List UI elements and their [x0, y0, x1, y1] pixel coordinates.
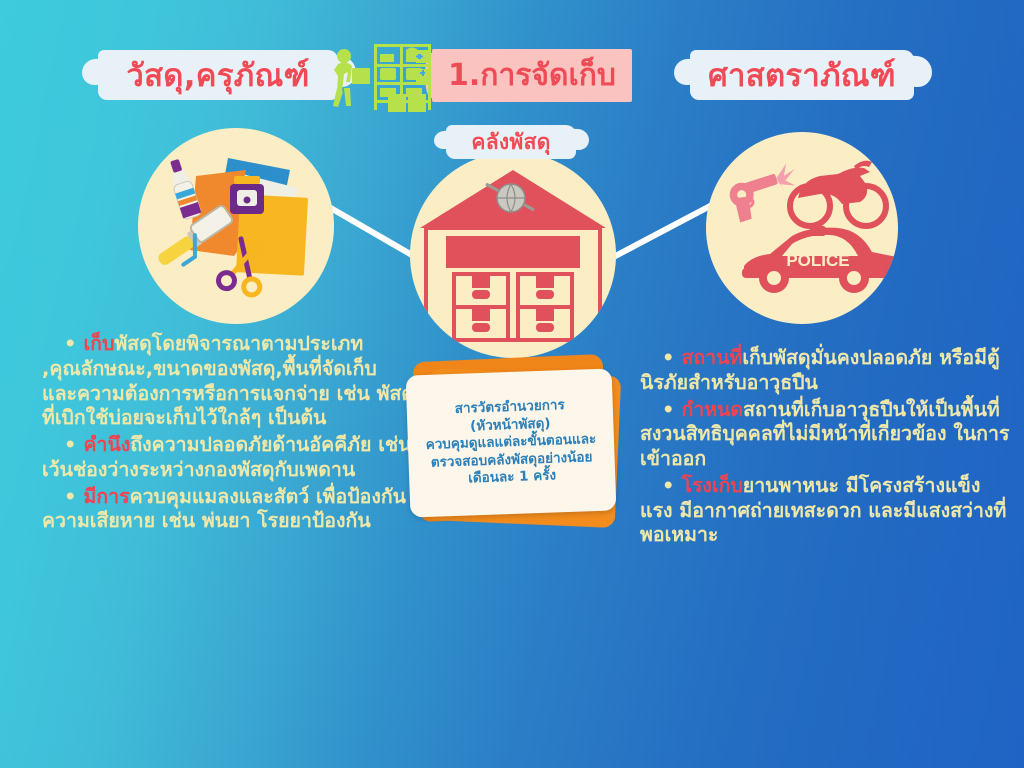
- header-left-label: วัสดุ,ครุภัณฑ์: [126, 50, 309, 100]
- bullet-dot: •: [64, 332, 76, 355]
- bullet-keyword: เก็บ: [83, 332, 114, 355]
- police-car-icon: POLICE: [742, 226, 898, 293]
- infographic-poster: POLICE วัสดุ,ครุภัณฑ์ ศาสตราภัณฑ์ 1.การจ…: [0, 0, 1024, 768]
- page-title: 1.การจัดเก็บ: [448, 61, 616, 91]
- police-car-label: POLICE: [786, 251, 849, 270]
- bullet-keyword: สถานที่: [681, 346, 742, 369]
- bullet-dot: •: [662, 346, 674, 369]
- note-card-text: สารวัตรอำนวยการ (หัวหน้าพัสดุ) ควบคุมดูแ…: [424, 396, 598, 490]
- circle-weapons-vehicles: POLICE: [706, 132, 898, 324]
- header-left-materials: วัสดุ,ครุภัณฑ์: [112, 54, 324, 96]
- bullet-dot: •: [662, 398, 674, 421]
- list-item: •กำหนดสถานที่เก็บอาวุธปืนให้เป็นพื้นที่ส…: [640, 398, 1010, 472]
- ink-jar-icon: [230, 176, 264, 214]
- motorcycle-icon: [790, 161, 886, 226]
- bullet-dot: •: [662, 474, 674, 497]
- bullet-keyword: กำหนด: [681, 398, 743, 421]
- office-supplies-illustration: [138, 128, 334, 324]
- header-right-label: ศาสตราภัณฑ์: [708, 50, 896, 100]
- list-item: •คำนึงถึงความปลอดภัยด้านอัคคีภัย เช่น เว…: [42, 433, 414, 483]
- label-warehouse: คลังพัสดุ: [456, 128, 566, 156]
- page-title-chip: 1.การจัดเก็บ: [432, 49, 632, 102]
- warehouse-building-illustration: [410, 152, 616, 358]
- header-right-armaments: ศาสตราภัณฑ์: [704, 54, 900, 96]
- list-item: •มีการควบคุมแมลงและสัตว์ เพื่อป้องกันควา…: [42, 485, 414, 535]
- bullet-keyword: คำนึง: [83, 433, 130, 456]
- note-card-stack: สารวัตรอำนวยการ (หัวหน้าพัสดุ) ควบคุมดูแ…: [398, 358, 622, 548]
- weapons-vehicles-illustration: POLICE: [706, 132, 898, 324]
- list-item: •โรงเก็บยานพาหนะ มีโครงสร้างแข็งแรง มีอา…: [640, 474, 1010, 548]
- shutter-door-icon: [446, 236, 580, 264]
- right-bullet-column: •สถานที่เก็บพัสดุมั่นคงปลอดภัย หรือมีตู้…: [640, 346, 1010, 550]
- list-item: •สถานที่เก็บพัสดุมั่นคงปลอดภัย หรือมีตู้…: [640, 346, 1010, 396]
- circle-office-supplies: [138, 128, 334, 324]
- bullet-dot: •: [64, 433, 76, 456]
- bullet-dot: •: [64, 485, 76, 508]
- storage-cabinet-icon: [454, 274, 572, 340]
- label-warehouse-text: คลังพัสดุ: [471, 126, 550, 159]
- list-item: •เก็บพัสดุโดยพิจารณาตามประเภท ,คุณลักษณะ…: [42, 332, 414, 431]
- circle-warehouse: [410, 152, 616, 358]
- left-bullet-column: •เก็บพัสดุโดยพิจารณาตามประเภท ,คุณลักษณะ…: [42, 332, 414, 536]
- bullet-keyword: โรงเก็บ: [681, 474, 742, 497]
- note-card-front: สารวัตรอำนวยการ (หัวหน้าพัสดุ) ควบคุมดูแ…: [406, 368, 617, 517]
- warehouse-worker-shelf-icon: [328, 42, 432, 114]
- bullet-keyword: มีการ: [83, 485, 129, 508]
